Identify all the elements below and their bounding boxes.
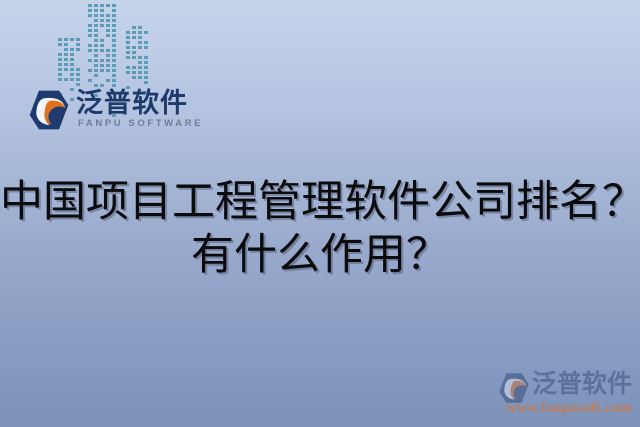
logo-name-cn: 泛普软件 bbox=[76, 87, 188, 121]
page-title: 中国项目工程管理软件公司排名？ 有什么作用？ bbox=[0, 176, 640, 282]
watermark-url: www.fanpusoft.com bbox=[506, 400, 632, 417]
watermark: 泛普软件 www.fanpusoft.com bbox=[498, 368, 634, 420]
center-building bbox=[88, 4, 120, 84]
fanpu-logo: 泛普软件 FANPU SOFTWARE bbox=[28, 88, 203, 134]
pixel-buildings-graphic bbox=[58, 0, 150, 84]
fanpu-hexagon-emblem bbox=[28, 89, 70, 131]
page-title-line-2: 有什么作用？ bbox=[0, 229, 640, 282]
page-title-line-1: 中国项目工程管理软件公司排名？ bbox=[0, 176, 640, 229]
logo-name-en: FANPU SOFTWARE bbox=[78, 118, 203, 129]
left-building bbox=[58, 38, 82, 84]
banner-image: 泛普软件 FANPU SOFTWARE 中国项目工程管理软件公司排名？ 有什么作… bbox=[0, 0, 640, 427]
watermark-name-cn: 泛普软件 bbox=[532, 368, 632, 400]
right-building bbox=[126, 26, 150, 84]
